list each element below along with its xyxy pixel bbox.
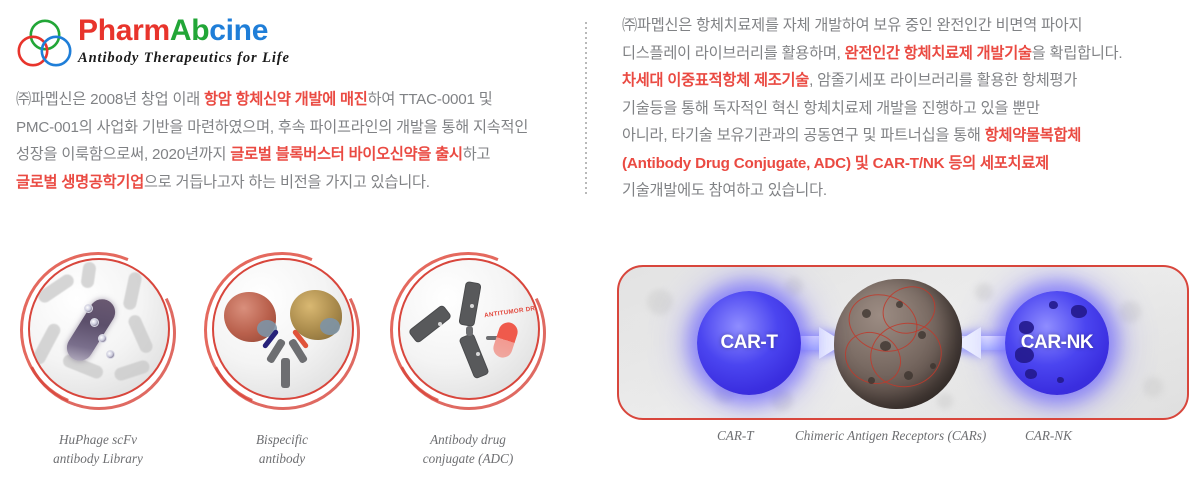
left-p-l3-a: 성장을 이룩함으로써, 2020년까지 — [16, 146, 230, 163]
left-paragraph-line-1: ㈜파멥신은 2008년 창업 이래 항암 항체신약 개발에 매진하여 TTAC-… — [16, 86, 571, 114]
left-paragraph-line-2: PMC-001의 사업화 기반을 마련하였으며, 후속 파이프라인의 개발을 통… — [16, 114, 571, 142]
bispecific-circle — [212, 258, 354, 400]
figure-huphage-caption: HuPhage scFv antibody Library — [8, 430, 188, 468]
right-paragraph-line-7: 기술개발에도 참여하고 있습니다. — [622, 177, 1187, 205]
car-technology-panel: CAR-T CAR-NK — [617, 265, 1189, 420]
technology-figures: HuPhage scFv antibody Library — [0, 252, 585, 485]
left-p-l4-highlight: 글로벌 생명공학기업 — [16, 174, 144, 191]
logo-tagline: Antibody Therapeutics for Life — [78, 49, 290, 67]
logo-word-cine: cine — [209, 14, 268, 47]
right-description-paragraph: ㈜파멥신은 항체치료제를 자체 개발하여 보유 중인 완전인간 비면역 파아지 … — [622, 12, 1187, 205]
caption-line-1: Antibody drug — [378, 430, 558, 449]
car-panel-captions: CAR-T Chimeric Antigen Receptors (CARs) … — [617, 428, 1189, 452]
car-t-cell-label: CAR-T — [720, 332, 777, 354]
right-paragraph-line-4: 기술등을 통해 독자적인 혁신 항체치료제 개발을 진행하고 있을 뿐만 — [622, 95, 1187, 123]
caption-line-1: Bispecific — [192, 430, 372, 449]
figure-adc: ANTITUMOR DRUG Antibody drug conjugate (… — [378, 252, 558, 468]
page-root: PharmAbcine Antibody Therapeutics for Li… — [0, 0, 1199, 485]
figure-adc-caption: Antibody drug conjugate (ADC) — [378, 430, 558, 468]
left-description-paragraph: ㈜파멥신은 2008년 창업 이래 항암 항체신약 개발에 매진하여 TTAC-… — [16, 86, 571, 196]
car-nk-cell: CAR-NK — [1005, 291, 1109, 395]
right-p-l5-highlight: 항체약물복합체 — [985, 127, 1081, 144]
tumor-cell-icon — [834, 279, 962, 409]
left-p-l1-highlight: 항암 항체신약 개발에 매진 — [204, 91, 368, 108]
antitumor-drug-capsule-icon — [491, 320, 520, 360]
right-p-l3-highlight: 차세대 이중표적항체 제조기술 — [622, 72, 809, 89]
right-p-l3-b: , 암줄기세포 라이브러리를 활용한 항체평가 — [809, 72, 1077, 89]
right-p-l5-a: 아니라, 타기술 보유기관과의 공동연구 및 파트너십을 통해 — [622, 127, 985, 144]
car-caption-left: CAR-T — [717, 428, 754, 444]
left-p-l1-a: ㈜파멥신은 2008년 창업 이래 — [16, 91, 204, 108]
bispecific-circle-illustration — [202, 252, 362, 412]
left-p-l3-highlight: 글로벌 블록버스터 바이오신약을 출시 — [230, 146, 462, 163]
huphage-circle — [28, 258, 170, 400]
car-t-cell: CAR-T — [697, 291, 801, 395]
caption-line-2: antibody Library — [8, 449, 188, 468]
left-p-l3-b: 하고 — [463, 146, 491, 163]
right-paragraph-line-5: 아니라, 타기술 보유기관과의 공동연구 및 파트너십을 통해 항체약물복합체 — [622, 122, 1187, 150]
antigen-red-icon — [224, 292, 276, 342]
company-logo: PharmAbcine Antibody Therapeutics for Li… — [16, 16, 306, 78]
huphage-circle-illustration — [18, 252, 178, 412]
right-paragraph-line-2: 디스플레이 라이브러리를 활용하며, 완전인간 항체치료제 개발기술을 확립합니… — [622, 40, 1187, 68]
right-paragraph-line-6: (Antibody Drug Conjugate, ADC) 및 CAR-T/N… — [622, 150, 1187, 178]
caption-line-1: HuPhage scFv — [8, 430, 188, 449]
car-caption-center: Chimeric Antigen Receptors (CARs) — [795, 428, 986, 444]
figure-bispecific-caption: Bispecific antibody — [192, 430, 372, 468]
figure-huphage: HuPhage scFv antibody Library — [8, 252, 188, 468]
adc-circle: ANTITUMOR DRUG — [398, 258, 540, 400]
right-paragraph-line-3: 차세대 이중표적항체 제조기술, 암줄기세포 라이브러리를 활용한 항체평가 — [622, 67, 1187, 95]
right-p-l2-highlight: 완전인간 항체치료제 개발기술 — [845, 45, 1032, 62]
column-divider — [585, 22, 587, 196]
left-paragraph-line-4: 글로벌 생명공학기업으로 거듭나고자 하는 비전을 가지고 있습니다. — [16, 169, 571, 197]
caption-line-2: antibody — [192, 449, 372, 468]
left-p-l1-b: 하여 TTAC-0001 및 — [368, 91, 493, 108]
logo-rings-icon — [16, 18, 74, 70]
left-p-l4-b: 으로 거듭나고자 하는 비전을 가지고 있습니다. — [144, 174, 430, 191]
left-paragraph-line-3: 성장을 이룩함으로써, 2020년까지 글로벌 블록버스터 바이오신약을 출시하… — [16, 141, 571, 169]
antitumor-drug-label: ANTITUMOR DRUG — [484, 304, 540, 319]
adc-circle-illustration: ANTITUMOR DRUG — [388, 252, 548, 412]
right-p-l2-b: 을 확립합니다. — [1032, 45, 1123, 62]
logo-word-pharm: Pharm — [78, 14, 170, 47]
right-p-l2-a: 디스플레이 라이브러리를 활용하며, — [622, 45, 845, 62]
right-p-l6-highlight: (Antibody Drug Conjugate, ADC) 및 CAR-T/N… — [622, 155, 1049, 172]
logo-wordmark: PharmAbcine Antibody Therapeutics for Li… — [78, 14, 290, 67]
car-caption-right: CAR-NK — [1025, 428, 1072, 444]
caption-line-2: conjugate (ADC) — [378, 449, 558, 468]
figure-bispecific: Bispecific antibody — [192, 252, 372, 468]
logo-word-ab: Ab — [170, 14, 209, 47]
right-paragraph-line-1: ㈜파멥신은 항체치료제를 자체 개발하여 보유 중인 완전인간 비면역 파아지 — [622, 12, 1187, 40]
